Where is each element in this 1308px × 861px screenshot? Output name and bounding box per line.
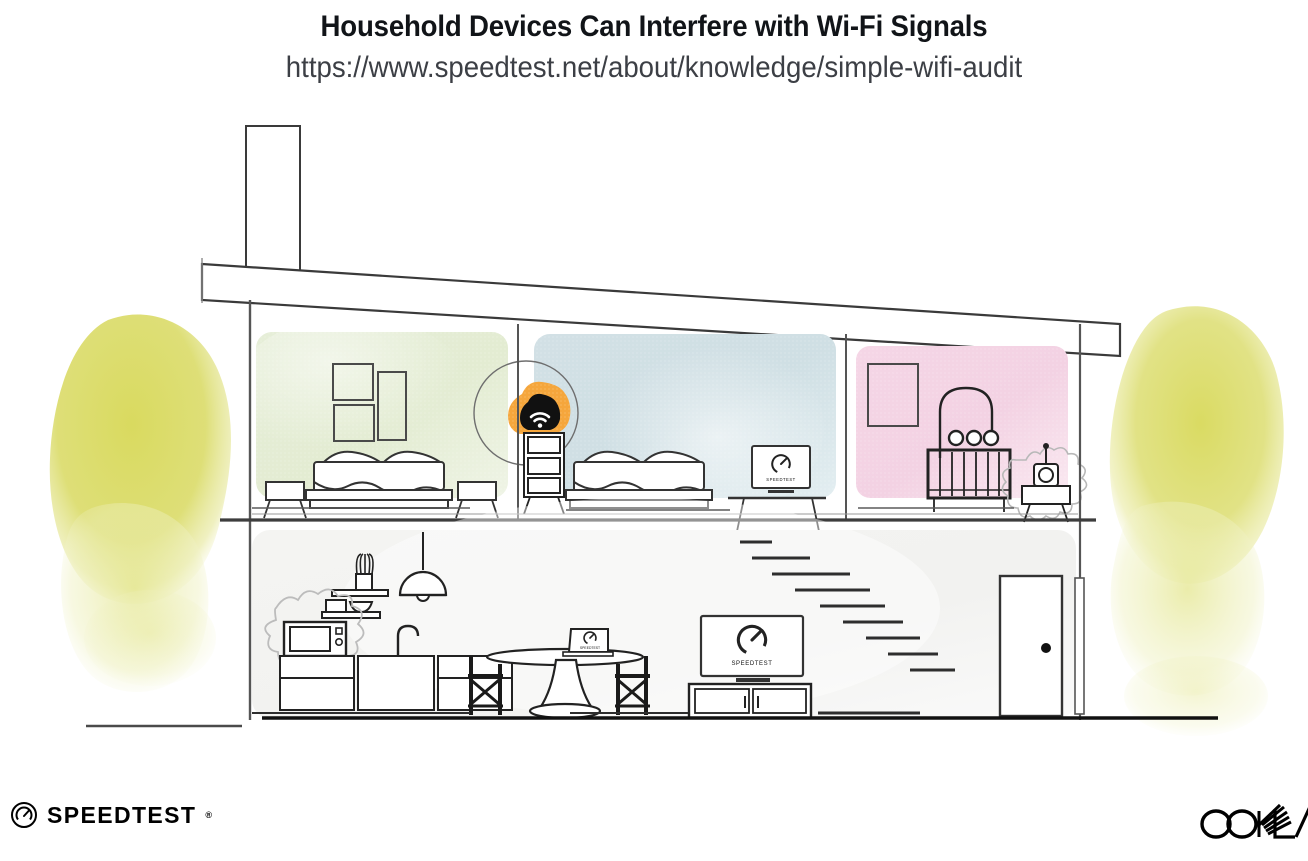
foliage-left [50,315,231,693]
ookla-letter-o2 [1228,811,1256,837]
ookla-letter-o1 [1202,811,1230,837]
room-nursery-pink [856,346,1087,522]
nightstand-left [264,482,306,518]
page-title: Household Devices Can Interfere with Wi-… [52,8,1255,46]
television-speedtest: SPEEDTEST [701,616,803,682]
speedtest-logo: SPEEDTEST ® [10,801,212,829]
downpipe [1075,578,1084,714]
ookla-logo: ™ [1196,803,1308,848]
laptop-speedtest: SPEEDTEST [563,629,613,656]
ookla-letter-a [1296,811,1308,837]
media-console [689,684,811,718]
screen-brand-label: SPEEDTEST [766,477,795,482]
speedtest-wordmark: SPEEDTEST [47,802,196,829]
entry-door[interactable] [1000,576,1062,716]
source-url: https://www.speedtest.net/about/knowledg… [52,48,1255,88]
footer: SPEEDTEST ® [0,797,1308,843]
infographic-page: Household Devices Can Interfere with Wi-… [0,0,1308,861]
kitchen-counters [280,656,512,710]
speedtest-trademark: ® [205,810,212,820]
speedometer-gauge-icon [10,801,38,829]
router-shelf [524,433,564,514]
header: Household Devices Can Interfere with Wi-… [0,0,1308,88]
monitor-speedtest-bedroom: SPEEDTEST [752,446,810,493]
room-bedroom-green [232,316,508,518]
foliage-right [1110,306,1284,736]
door-knob-icon[interactable] [1041,643,1051,653]
screen-brand-label: SPEEDTEST [731,661,772,667]
screen-brand-label: SPEEDTEST [580,646,600,650]
house-cutaway-illustration: SPEEDTEST [0,108,1308,748]
chimney [246,126,300,276]
